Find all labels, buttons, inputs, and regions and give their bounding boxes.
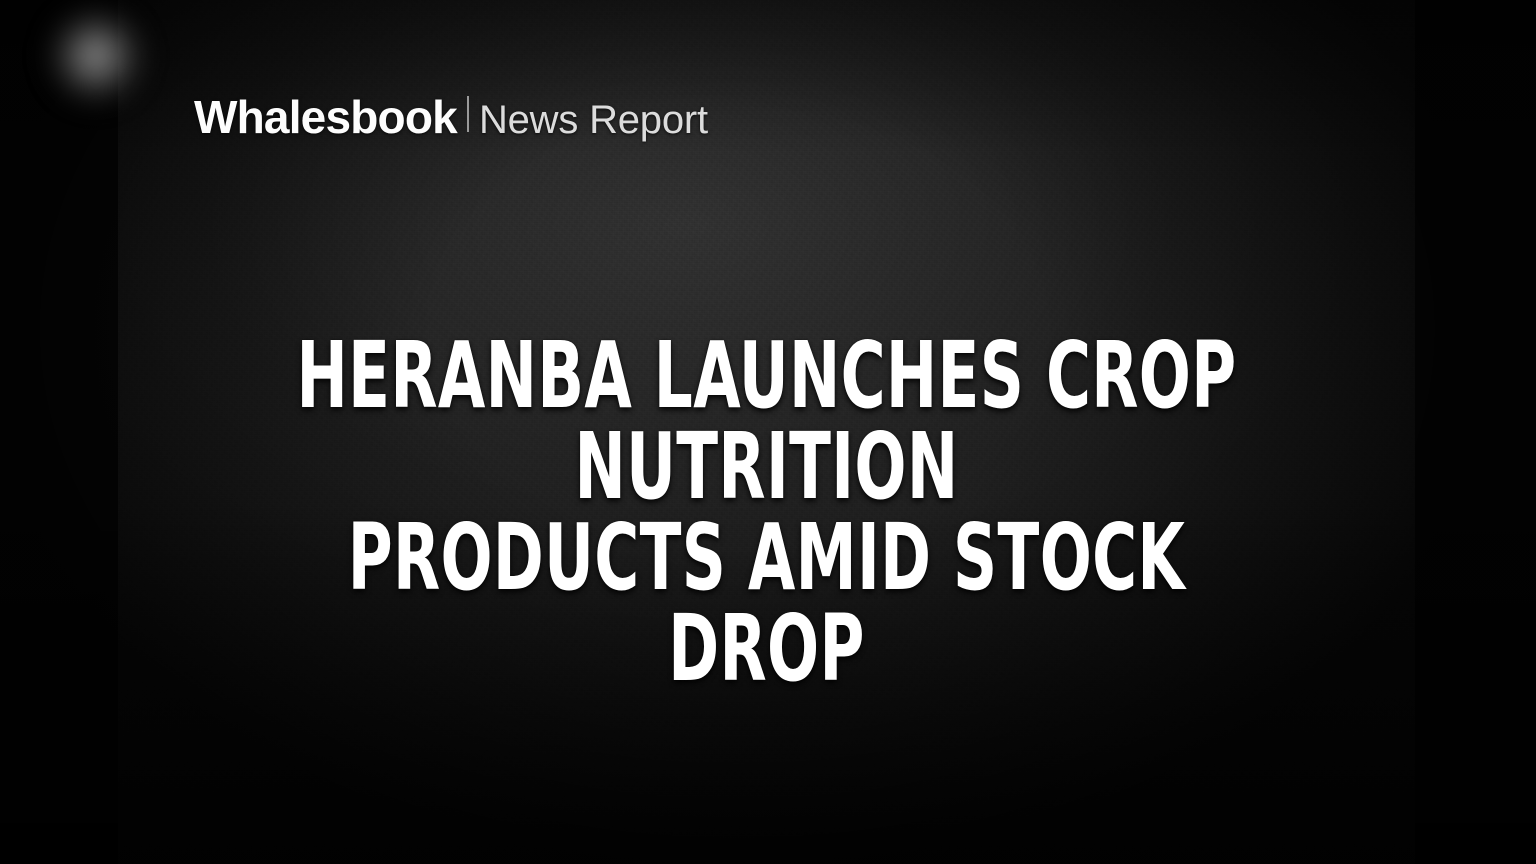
headline-line-2: PRODUCTS AMID STOCK DROP <box>287 512 1247 694</box>
brand-subtitle: News Report <box>479 100 708 140</box>
headline: HERANBA LAUNCHES CROP NUTRITION PRODUCTS… <box>287 330 1247 694</box>
headline-line-1: HERANBA LAUNCHES CROP NUTRITION <box>287 330 1247 512</box>
brand-logo-lockup: Whalesbook News Report <box>194 94 708 140</box>
logo-separator-icon <box>467 96 469 132</box>
blurred-light-glow-icon <box>48 8 144 104</box>
brand-name: Whalesbook <box>194 94 457 140</box>
news-report-card: Whalesbook News Report HERANBA LAUNCHES … <box>0 0 1536 864</box>
